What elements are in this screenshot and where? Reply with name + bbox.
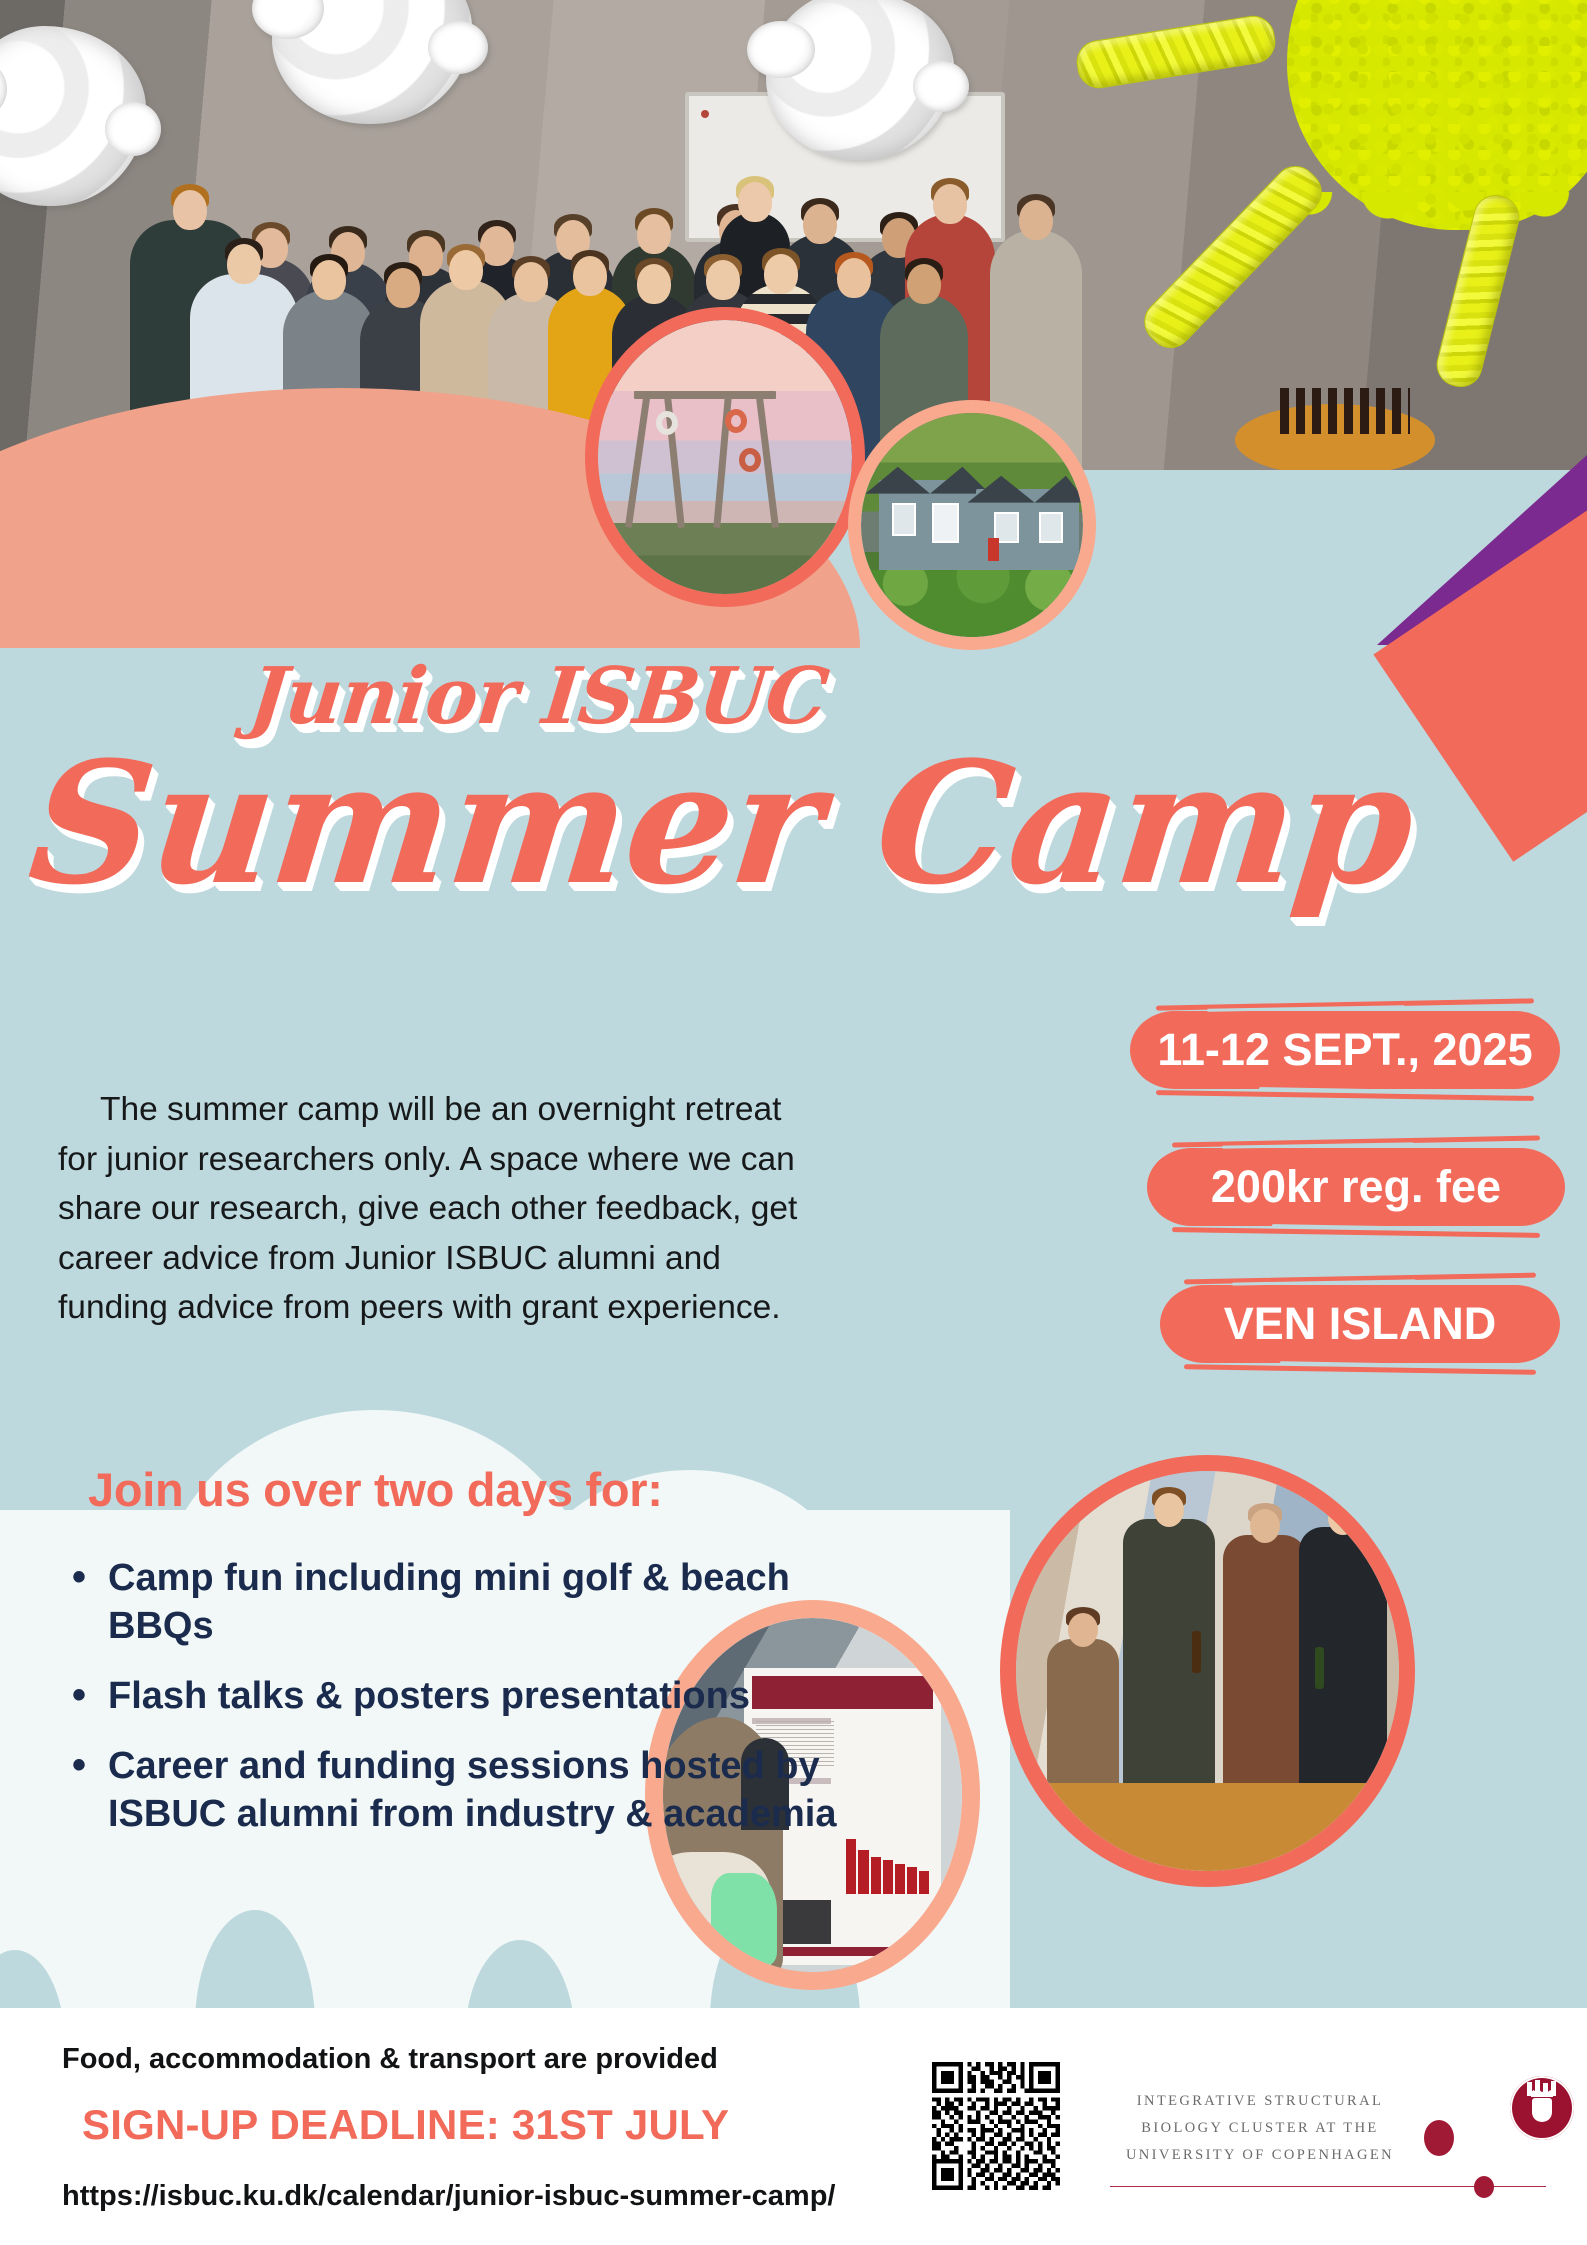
bottles (1280, 388, 1410, 434)
title-line-1: Junior ISBUC (246, 660, 904, 734)
join-heading: Join us over two days for: (88, 1462, 663, 1517)
badge-dates: 11-12 SEPT., 2025 (1130, 1011, 1560, 1089)
badge-location: VEN ISLAND (1160, 1285, 1560, 1363)
footer-signup-url[interactable]: https://isbuc.ku.dk/calendar/junior-isbu… (62, 2180, 835, 2213)
logo-line-2: BIOLOGY CLUSTER AT THE (1110, 2115, 1410, 2142)
person (1299, 1527, 1387, 1783)
beer-bottle (1315, 1647, 1324, 1689)
badge-fee: 200kr reg. fee (1147, 1148, 1565, 1226)
list-item: Flash talks & posters presentations (66, 1673, 906, 1721)
badge-dates-label: 11-12 SEPT., 2025 (1157, 1024, 1532, 1076)
footer-deadline-text: SIGN-UP DEADLINE: 31ST JULY (82, 2101, 729, 2149)
beer-bottle (1192, 1631, 1201, 1673)
logo-dot-small (1474, 2176, 1494, 2198)
green-bag (711, 1873, 777, 1965)
logo-line-1: INTEGRATIVE STRUCTURAL (1110, 2088, 1410, 2115)
poster-canvas: Junior ISBUC Summer Camp The summer camp… (0, 0, 1587, 2245)
join-list: Camp fun including mini golf & beach BBQ… (66, 1555, 906, 1860)
list-item: Career and funding sessions hosted by IS… (66, 1743, 906, 1839)
logo-line-3: UNIVERSITY OF COPENHAGEN (1110, 2142, 1410, 2169)
footer-provided-text: Food, accommodation & transport are prov… (62, 2043, 718, 2076)
swing-set (634, 386, 776, 528)
badge-location-label: VEN ISLAND (1224, 1298, 1497, 1350)
list-item: Camp fun including mini golf & beach BBQ… (66, 1555, 906, 1651)
university-seal-icon (1510, 2076, 1574, 2140)
badge-fee-label: 200kr reg. fee (1211, 1161, 1501, 1213)
logo-dot-large (1424, 2120, 1454, 2156)
title-line-2: Summer Camp (24, 744, 909, 904)
person (1047, 1639, 1120, 1783)
poster-title: Junior ISBUC Summer Camp (0, 660, 900, 904)
person (1123, 1519, 1215, 1783)
isbuc-logo: INTEGRATIVE STRUCTURAL BIOLOGY CLUSTER A… (1110, 2078, 1550, 2218)
person (1223, 1535, 1307, 1783)
intro-text: The summer camp will be an overnight ret… (58, 1091, 797, 1326)
photo-circle-sunset-swings (585, 307, 865, 607)
photo-circle-cabins (848, 400, 1096, 650)
intro-paragraph: The summer camp will be an overnight ret… (58, 1085, 803, 1333)
photo-circle-social-gathering (1000, 1455, 1415, 1887)
qr-code-icon[interactable] (932, 2062, 1060, 2190)
